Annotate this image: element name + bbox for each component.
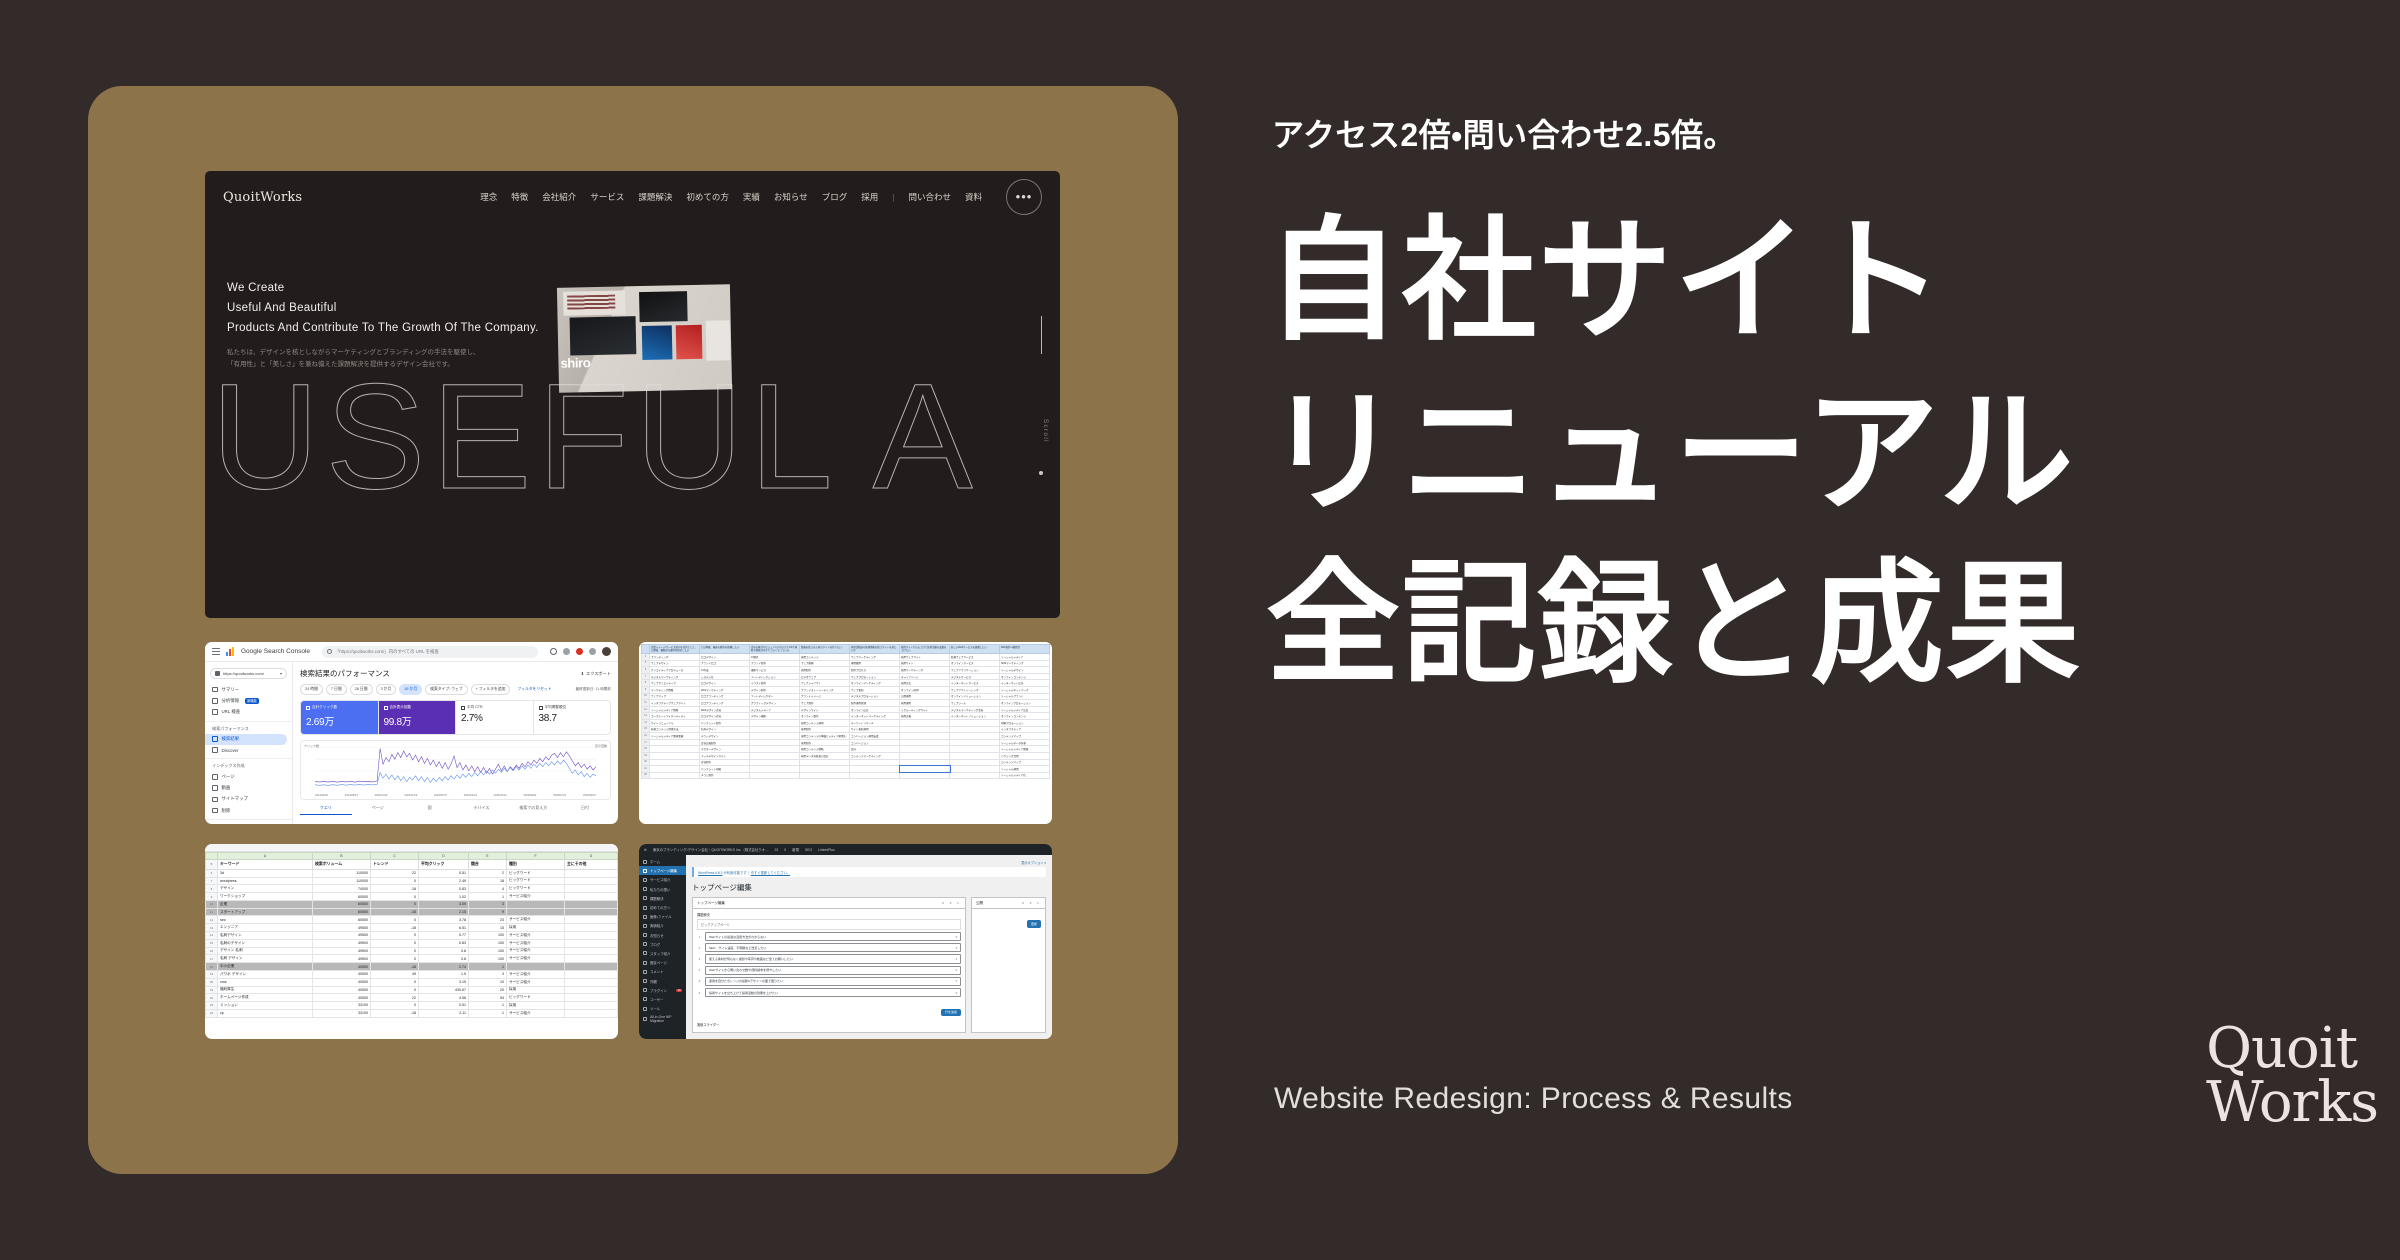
row-number[interactable]: 9: [642, 686, 650, 693]
cell-type[interactable]: 採用: [507, 924, 565, 932]
table-cell[interactable]: コンテンツマップ: [1000, 733, 1050, 740]
cell-competition[interactable]: 2: [469, 869, 507, 877]
wp-menu-item[interactable]: トップページ編集: [639, 866, 686, 875]
cell-competition[interactable]: 1: [469, 893, 507, 901]
table-cell[interactable]: [850, 766, 900, 773]
cell-keyword[interactable]: ホームページ作成: [218, 994, 313, 1002]
sidebar-item-url-inspection[interactable]: URL 検査: [205, 706, 292, 717]
update-version-link[interactable]: WordPress 6.8.3: [698, 871, 723, 875]
repeater-row[interactable]: 4Webサイトから問い合わせ数や資料請求を増やしたい▾: [697, 966, 961, 975]
table-cell[interactable]: 撮影サービス: [750, 667, 800, 674]
cell-trend[interactable]: 0: [371, 893, 419, 901]
row-number[interactable]: 6: [206, 869, 218, 877]
wp-menu-item[interactable]: コメント: [639, 967, 686, 976]
cell-avg-click[interactable]: 0.8: [419, 947, 469, 955]
column-header-volume[interactable]: 検索ボリューム: [313, 860, 371, 870]
cell-other[interactable]: [565, 877, 618, 885]
table-cell[interactable]: 新規ウェブサービス: [950, 654, 1000, 661]
cell-other[interactable]: [565, 986, 618, 994]
table-row[interactable]: 63d110000220.512ビッグワード: [206, 869, 618, 877]
table-cell[interactable]: 印刷プロモーション: [1000, 719, 1050, 726]
cell-avg-click[interactable]: 1.02: [419, 893, 469, 901]
row-number[interactable]: 18: [206, 963, 218, 971]
table-cell[interactable]: ウェブ動画: [800, 660, 850, 667]
sidebar-item-pages[interactable]: ページ: [205, 771, 292, 782]
table-cell[interactable]: イラスト制作: [750, 680, 800, 687]
cell-volume[interactable]: 49500: [313, 932, 371, 940]
wp-menu-item[interactable]: 課題解決: [639, 894, 686, 903]
row-number[interactable]: 19: [642, 752, 650, 759]
cell-avg-click[interactable]: 2.11: [419, 1009, 469, 1017]
chevron-down-icon[interactable]: ▾: [955, 968, 957, 972]
table-cell[interactable]: 採用広報: [900, 713, 950, 720]
table-cell[interactable]: オンラインコンテンツ: [1000, 673, 1050, 680]
cell-avg-click[interactable]: 3.09: [419, 900, 469, 908]
cell-trend[interactable]: 22: [371, 994, 419, 1002]
cell-avg-click[interactable]: 3.15: [419, 978, 469, 986]
row-number[interactable]: 10: [206, 900, 218, 908]
table-cell[interactable]: オンラインコンテンツ: [1000, 713, 1050, 720]
table-cell[interactable]: 新規コンテンツ提供方法: [650, 726, 700, 733]
cell-competition[interactable]: 10: [469, 978, 507, 986]
cell-volume[interactable]: 33100: [313, 1009, 371, 1017]
cell-other[interactable]: [565, 947, 618, 955]
table-cell[interactable]: [750, 766, 800, 773]
table-cell[interactable]: デジタルサービス: [950, 673, 1000, 680]
table-row[interactable]: 14サイトリニューアルパンフレット制作採用コンテンツ運用キーワードリサーチ印刷プ…: [642, 719, 1050, 726]
cell-other[interactable]: [565, 1002, 618, 1010]
cell-volume[interactable]: 40500: [313, 963, 371, 971]
chip-add-filter[interactable]: + フィルタを追加: [471, 684, 511, 695]
sidebar-item-videos[interactable]: 動画: [205, 783, 292, 794]
table-cell[interactable]: 運用費用: [850, 660, 900, 667]
table-cell[interactable]: ロゴブランディング: [700, 693, 750, 700]
cell-volume[interactable]: 49500: [313, 939, 371, 947]
add-row-button[interactable]: 行を追加: [941, 1009, 961, 1016]
table-cell[interactable]: ロゴデザイン: [700, 654, 750, 661]
cell-volume[interactable]: 110000: [313, 877, 371, 885]
row-number[interactable]: 8: [642, 680, 650, 687]
sidebar-item-summary[interactable]: サマリー: [205, 684, 292, 695]
cell-type[interactable]: ビッグワード: [507, 877, 565, 885]
table-row[interactable]: 12ソーシャルメディア戦略Webデザイン会社デジタルメディアデザインサイトオンラ…: [642, 706, 1050, 713]
cell-volume[interactable]: 40500: [313, 986, 371, 994]
table-cell[interactable]: ウェブツール: [950, 700, 1000, 707]
page-select-input[interactable]: 運用を自分たちレンジの最新&デザインの面で困りたい▾: [705, 977, 961, 986]
table-row[interactable]: 9マーケティング戦略Webマーケティングデザイン制作ブランドストーリーテリングウ…: [642, 686, 1050, 693]
property-selector[interactable]: https://quoitworks.com/ ▾: [210, 668, 287, 679]
row-number[interactable]: 7: [206, 877, 218, 885]
row-number[interactable]: 9: [206, 893, 218, 901]
cell-volume[interactable]: 74000: [313, 885, 371, 893]
col-letter[interactable]: B: [313, 853, 371, 860]
corner-cell[interactable]: [206, 853, 218, 860]
cell-avg-click[interactable]: 0.83: [419, 939, 469, 947]
table-cell[interactable]: [750, 759, 800, 766]
wp-menu-item[interactable]: 画像・ファイル: [639, 912, 686, 921]
table-cell[interactable]: 公開運用: [900, 693, 950, 700]
table-cell[interactable]: ロゴブランディング: [700, 700, 750, 707]
cell-keyword[interactable]: wordpress: [218, 877, 313, 885]
table-cell[interactable]: コーポレートアイデンティティ: [650, 713, 700, 720]
cell-other[interactable]: [565, 1009, 618, 1017]
table-cell[interactable]: パンフレット制作: [700, 719, 750, 726]
row-number[interactable]: 15: [206, 939, 218, 947]
column-header-other[interactable]: 主にその他: [565, 860, 618, 870]
table-cell[interactable]: [950, 759, 1000, 766]
table-cell[interactable]: デザイン制作: [750, 686, 800, 693]
row-number[interactable]: 8: [206, 885, 218, 893]
table-cell[interactable]: [900, 739, 950, 746]
cell-type[interactable]: [507, 900, 565, 908]
table-cell[interactable]: ソーシャルブランド: [1000, 693, 1050, 700]
table-cell[interactable]: インターネットサービス: [950, 680, 1000, 687]
table-cell[interactable]: コンバージョン: [850, 739, 900, 746]
table-cell[interactable]: システム化: [700, 673, 750, 680]
row-number[interactable]: 17: [206, 955, 218, 963]
row-number[interactable]: 4: [642, 654, 650, 661]
table-cell[interactable]: [900, 772, 950, 779]
table-cell[interactable]: ソーシャルネットワーク: [1000, 686, 1050, 693]
wp-menu-item[interactable]: お知らせ: [639, 931, 686, 940]
table-cell[interactable]: グラフィックデザイン: [750, 700, 800, 707]
table-cell[interactable]: キーワードリサーチ: [850, 719, 900, 726]
cell-keyword[interactable]: 名刺のデザイン: [218, 939, 313, 947]
wp-menu-item[interactable]: ホーム: [639, 857, 686, 866]
cell-keyword[interactable]: cms: [218, 978, 313, 986]
table-cell[interactable]: リクルーティングサイト: [900, 706, 950, 713]
cell-trend[interactable]: 22: [371, 869, 419, 877]
nav-item-kaisha[interactable]: 会社紹介: [542, 191, 576, 203]
page-select-input[interactable]: 使える素材が何もなく撮影や写真や動画など全てお願いしたい▾: [705, 954, 961, 963]
table-cell[interactable]: [650, 739, 700, 746]
column-header[interactable]: 新しいWebサービスを展開したい: [950, 645, 1000, 654]
table-cell[interactable]: [800, 759, 850, 766]
table-cell[interactable]: 設計: [850, 746, 900, 753]
page-select-input[interactable]: 採用サイトを立ち上げて採用活動の効果を上げたい▾: [705, 988, 961, 997]
table-cell[interactable]: ソーシャルデザイン: [1000, 667, 1050, 674]
table-cell[interactable]: ブランドストーリーテリング: [800, 686, 850, 693]
table-cell[interactable]: インタラクティブウェブサイト: [650, 700, 700, 707]
table-cell[interactable]: [900, 746, 950, 753]
chip-reset-filter[interactable]: フィルタをリセット: [513, 685, 555, 694]
table-cell[interactable]: ソーシャルメディア: [1000, 654, 1050, 661]
feedback-icon[interactable]: [563, 648, 570, 655]
column-header-comp[interactable]: 競合: [469, 860, 507, 870]
column-header[interactable]: 採用活動面や新規開拓を狙うサイトを見たいか: [850, 645, 900, 654]
table-row[interactable]: 10ウェブマップロゴブランディングアートディレクターブランドイメージデジタルプロ…: [642, 693, 1050, 700]
cell-keyword[interactable]: パワポ デザイン: [218, 970, 313, 978]
cell-type[interactable]: ビッグワード: [507, 869, 565, 877]
nav-item-contact[interactable]: 問い合わせ: [908, 191, 951, 203]
table-cell[interactable]: Webマーケティング: [700, 686, 750, 693]
table-cell[interactable]: 採用コンテンツ戦略: [800, 746, 850, 753]
table-cell[interactable]: ウェブプロモーション: [850, 673, 900, 680]
table-cell[interactable]: インターネット広告: [1000, 680, 1050, 687]
wp-menu-item[interactable]: All-in-One WP Migration: [639, 1013, 686, 1025]
cell-trend[interactable]: -18: [371, 885, 419, 893]
row-number[interactable]: 20: [642, 759, 650, 766]
notifications-icon[interactable]: [576, 648, 583, 655]
cell-other[interactable]: [565, 955, 618, 963]
table-row[interactable]: 15新規コンテンツ提供方法名刺デザイン採用制作サイト更新運用インタラクティブ: [642, 726, 1050, 733]
cell-competition[interactable]: 1: [469, 1009, 507, 1017]
table-row[interactable]: 8デザイン74000-180.834ビッグワード: [206, 885, 618, 893]
table-cell[interactable]: 採用運用: [900, 700, 950, 707]
table-row[interactable]: 18ポスターデザイン採用コンテンツ戦略設計ソーシャルメディア開発: [642, 746, 1050, 753]
table-cell[interactable]: ソーシャルデータ分析: [1000, 739, 1050, 746]
row-number[interactable]: 21: [206, 986, 218, 994]
row-number[interactable]: 22: [206, 994, 218, 1002]
table-cell[interactable]: CI作成: [700, 667, 750, 674]
cell-avg-click[interactable]: 0.51: [419, 869, 469, 877]
table-cell[interactable]: ソーシャルメディア化: [1000, 772, 1050, 779]
sidebar-item-sitemaps[interactable]: サイトマップ: [205, 794, 292, 805]
table-row[interactable]: 16デザイン 名刺4950000.8100サービス紹介: [206, 947, 618, 955]
cell-avg-click[interactable]: 3.78: [419, 916, 469, 924]
cell-avg-click[interactable]: 2.15: [419, 908, 469, 916]
cell-trend[interactable]: -18: [371, 908, 419, 916]
table-cell[interactable]: [750, 719, 800, 726]
cell-volume[interactable]: 49500: [313, 947, 371, 955]
cell-keyword[interactable]: スタートアップ: [218, 908, 313, 916]
row-number[interactable]: 15: [642, 726, 650, 733]
table-cell[interactable]: アートディレクション: [750, 673, 800, 680]
row-number[interactable]: 16: [206, 947, 218, 955]
repeater-row[interactable]: 2SEO、サイト速度、不明確など改善したい▾: [697, 943, 961, 952]
checkbox-icon[interactable]: [539, 706, 543, 710]
chevron-down-icon[interactable]: ▾: [955, 991, 957, 995]
table-cell[interactable]: デジタルメディア: [750, 706, 800, 713]
table-row[interactable]: 4ブランディングロゴデザインCI制作採用コンテンツウェブマーケティング採用ウェブ…: [642, 654, 1050, 661]
wp-site-name[interactable]: 東京のブランディング・デザイン会社｜QUOITWORKS Inc.（株式会社クオ…: [653, 847, 769, 852]
table-row[interactable]: 23ミッション3310000.511採用: [206, 1002, 618, 1010]
cell-other[interactable]: [565, 885, 618, 893]
table-cell[interactable]: ウェブアウトソーシング: [950, 686, 1000, 693]
export-button[interactable]: ⬇ エクスポート: [580, 671, 611, 677]
table-row[interactable]: 21福利厚生405000430.6720採用: [206, 986, 618, 994]
cell-trend[interactable]: 0: [371, 877, 419, 885]
row-number[interactable]: 11: [206, 908, 218, 916]
cell-volume[interactable]: 33100: [313, 1002, 371, 1010]
table-cell[interactable]: [950, 733, 1000, 740]
table-cell[interactable]: SNSマーケティング: [1000, 660, 1050, 667]
table-cell[interactable]: ウェブレイアウト: [800, 680, 850, 687]
hamburger-icon[interactable]: [212, 648, 220, 655]
column-header[interactable]: とは明確、最新の動作を把握したい: [700, 645, 750, 654]
cell-keyword[interactable]: エンジニア: [218, 924, 313, 932]
table-cell[interactable]: [950, 719, 1000, 726]
table-row[interactable]: 19マッチデザインサイト採用データ分析及び設計コンテンツマーケティングハウジング…: [642, 752, 1050, 759]
cell-avg-click[interactable]: 430.67: [419, 986, 469, 994]
repeater-row[interactable]: 3使える素材が何もなく撮影や写真や動画など全てお願いしたい▾: [697, 954, 961, 963]
cell-volume[interactable]: 40500: [313, 978, 371, 986]
cell-trend[interactable]: 0: [371, 947, 419, 955]
table-cell[interactable]: インターネットマーケティング: [850, 713, 900, 720]
cell-type[interactable]: サービス紹介: [507, 978, 565, 986]
sidebar-item-search-results[interactable]: 検索結果: [205, 734, 287, 745]
wp-menu-item[interactable]: ツール: [639, 1004, 686, 1013]
table-cell[interactable]: ロゴデザイン: [700, 680, 750, 687]
cell-keyword[interactable]: 名刺 デザイン: [218, 955, 313, 963]
cell-other[interactable]: [565, 939, 618, 947]
table-cell[interactable]: ソーシャルメディア関連業務: [650, 733, 700, 740]
wp-menu-item[interactable]: 私たちの想い: [639, 885, 686, 894]
wp-menu-item[interactable]: 初めての方へ: [639, 903, 686, 912]
table-row[interactable]: 13エンジニア49500-186.5115採用: [206, 924, 618, 932]
table-cell[interactable]: ポスターデザイン: [700, 746, 750, 753]
table-cell[interactable]: [950, 746, 1000, 753]
table-cell[interactable]: コンテンツマップ: [1000, 759, 1050, 766]
sidebar-item-insights[interactable]: 分析情報 新機能: [205, 695, 292, 706]
table-cell[interactable]: [650, 766, 700, 773]
table-cell[interactable]: オンライン制作: [800, 713, 850, 720]
cell-trend[interactable]: 0: [371, 955, 419, 963]
row-number[interactable]: 18: [642, 746, 650, 753]
cell-trend[interactable]: -18: [371, 1009, 419, 1017]
cell-type[interactable]: 採用: [507, 1002, 565, 1010]
table-cell[interactable]: キャリアページ: [900, 673, 950, 680]
cell-type[interactable]: サービス紹介: [507, 916, 565, 924]
cell-avg-click[interactable]: 2.74: [419, 963, 469, 971]
table-cell[interactable]: 採用コンテンツ: [800, 654, 850, 661]
table-cell[interactable]: [750, 733, 800, 740]
metric-card-position[interactable]: 平均掲載順位 38.7: [534, 701, 611, 734]
nav-item-saiyo[interactable]: 採用: [861, 191, 878, 203]
table-row[interactable]: 15名刺のデザイン4950000.83100サービス紹介: [206, 939, 618, 947]
table-cell[interactable]: サイト更新運用: [850, 726, 900, 733]
cell-keyword[interactable]: デザイン 名刺: [218, 947, 313, 955]
cell-competition[interactable]: 94: [469, 994, 507, 1002]
table-cell[interactable]: パンフレット印刷: [700, 766, 750, 773]
table-row[interactable]: 10企業6050003.093: [206, 900, 618, 908]
cell-other[interactable]: [565, 932, 618, 940]
tab-queries[interactable]: クエリ: [300, 805, 352, 815]
row-number[interactable]: 17: [642, 739, 650, 746]
table-row[interactable]: 20cms4050003.1510サービス紹介: [206, 978, 618, 986]
table-row[interactable]: 11インタラクティブウェブサイトロゴブランディンググラフィックデザインウェブ制作…: [642, 700, 1050, 707]
cell-competition[interactable]: 4: [469, 885, 507, 893]
table-cell[interactable]: ソーシャルメディア戦略: [650, 706, 700, 713]
cell-trend[interactable]: -18: [371, 924, 419, 932]
metric-card-impressions[interactable]: 合計表示回数 99.8万: [379, 701, 457, 734]
sidebar-item-discover[interactable]: Discover: [205, 745, 292, 756]
table-cell[interactable]: [950, 726, 1000, 733]
table-row[interactable]: 21パンフレット印刷ソーシャル運用: [642, 766, 1050, 773]
wp-new-button[interactable]: 新規: [792, 847, 799, 852]
cell-trend[interactable]: -18: [371, 963, 419, 971]
table-cell[interactable]: 採用制作: [800, 667, 850, 674]
table-row[interactable]: 22ホームページ作成40500224.5694ビッグワード: [206, 994, 618, 1002]
row-number[interactable]: 11: [642, 700, 650, 707]
table-cell[interactable]: [650, 772, 700, 779]
chip-16m[interactable]: 16 か月: [399, 684, 422, 695]
cell-trend[interactable]: 0: [371, 978, 419, 986]
cell-volume[interactable]: 40500: [313, 994, 371, 1002]
table-row[interactable]: 16ソーシャルメディア関連業務チラシデザイン採用コンテンツの準備とメディア運用先…: [642, 733, 1050, 740]
repeater-row[interactable]: 1Webサイトの最適な活用方法がわからない▾: [697, 932, 961, 941]
apps-grid-icon[interactable]: [589, 648, 596, 655]
cell-type[interactable]: [507, 908, 565, 916]
cell-volume[interactable]: 60500: [313, 908, 371, 916]
nav-item-shiryo[interactable]: 資料: [965, 191, 982, 203]
table-row[interactable]: 6クリエイティブプロデュースCI作成撮影サービス採用制作制作プロセス採用マーケテ…: [642, 667, 1050, 674]
checkbox-icon[interactable]: [306, 706, 310, 710]
avatar[interactable]: [602, 647, 611, 656]
row-number[interactable]: 5: [642, 660, 650, 667]
table-cell[interactable]: ウェブマーケティング: [850, 654, 900, 661]
cell-trend[interactable]: 0: [371, 1002, 419, 1010]
cell-volume[interactable]: 110000: [313, 869, 371, 877]
wp-seo-menu[interactable]: SEO: [805, 848, 812, 852]
cell-avg-click[interactable]: 0.51: [419, 1002, 469, 1010]
table-row[interactable]: 12seo6050003.7823サービス紹介: [206, 916, 618, 924]
row-number[interactable]: 20: [206, 978, 218, 986]
table-cell[interactable]: アートディレクター: [750, 693, 800, 700]
nav-item-blog[interactable]: ブログ: [822, 191, 848, 203]
table-row[interactable]: 18中小企業40500-182.741: [206, 963, 618, 971]
cell-keyword[interactable]: 3d: [218, 869, 313, 877]
wp-menu-item[interactable]: 固定ページ: [639, 958, 686, 967]
table-cell[interactable]: ブランディング: [650, 654, 700, 661]
table-cell[interactable]: 会社広報制作: [700, 739, 750, 746]
cell-keyword[interactable]: デザイン: [218, 885, 313, 893]
wp-menu-item[interactable]: ユーザー: [639, 995, 686, 1004]
cell-competition[interactable]: 1: [469, 963, 507, 971]
nav-item-tokucho[interactable]: 特徴: [511, 191, 528, 203]
table-cell[interactable]: コンバージョン運用支援: [850, 733, 900, 740]
cell-avg-click[interactable]: 4.56: [419, 994, 469, 1002]
table-cell[interactable]: 採用広告: [900, 680, 950, 687]
cell-volume[interactable]: 60500: [313, 916, 371, 924]
cell-type[interactable]: サービス紹介: [507, 1009, 565, 1017]
table-cell[interactable]: [650, 746, 700, 753]
cell-volume[interactable]: 60500: [313, 900, 371, 908]
table-cell[interactable]: ソーシャル運用: [1000, 766, 1050, 773]
table-cell[interactable]: オンラインプロモーション: [1000, 700, 1050, 707]
table-cell[interactable]: デジタルマーケティング会社: [950, 706, 1000, 713]
tab-countries[interactable]: 国: [404, 805, 456, 815]
row-number[interactable]: 24: [206, 1009, 218, 1017]
table-cell[interactable]: ソーシャルメディア広告: [1000, 706, 1050, 713]
wp-menu-item[interactable]: スタッフ紹介: [639, 949, 686, 958]
table-cell[interactable]: デザイン撮影: [750, 713, 800, 720]
cell-keyword[interactable]: seo: [218, 916, 313, 924]
cell-keyword[interactable]: ミッション: [218, 1002, 313, 1010]
cell-other[interactable]: [565, 893, 618, 901]
row-number[interactable]: 7: [642, 673, 650, 680]
table-cell[interactable]: ブランドイメージ: [800, 693, 850, 700]
metric-card-ctr[interactable]: 平均 CTR 2.7%: [456, 701, 534, 734]
row-number[interactable]: 13: [642, 713, 650, 720]
col-letter[interactable]: A: [218, 853, 313, 860]
cell-keyword[interactable]: 福利厚生: [218, 986, 313, 994]
tab-pages[interactable]: ページ: [352, 805, 404, 815]
cell-other[interactable]: [565, 970, 618, 978]
cell-volume[interactable]: 49500: [313, 955, 371, 963]
table-cell[interactable]: [900, 759, 950, 766]
table-cell[interactable]: 採用コンテンツ運用: [800, 719, 850, 726]
chip-24h[interactable]: 24 時間: [300, 684, 323, 695]
cell-trend[interactable]: 0: [371, 939, 419, 947]
metabox-controls[interactable]: ∧ ∨ ×: [942, 901, 961, 905]
table-cell[interactable]: 採用データ分析及び設計: [800, 752, 850, 759]
chevron-down-icon[interactable]: ▾: [955, 935, 957, 939]
cell-competition[interactable]: 18: [469, 877, 507, 885]
col-letter[interactable]: E: [469, 853, 507, 860]
cell-avg-click[interactable]: 0.83: [419, 885, 469, 893]
cell-volume[interactable]: 49500: [313, 924, 371, 932]
